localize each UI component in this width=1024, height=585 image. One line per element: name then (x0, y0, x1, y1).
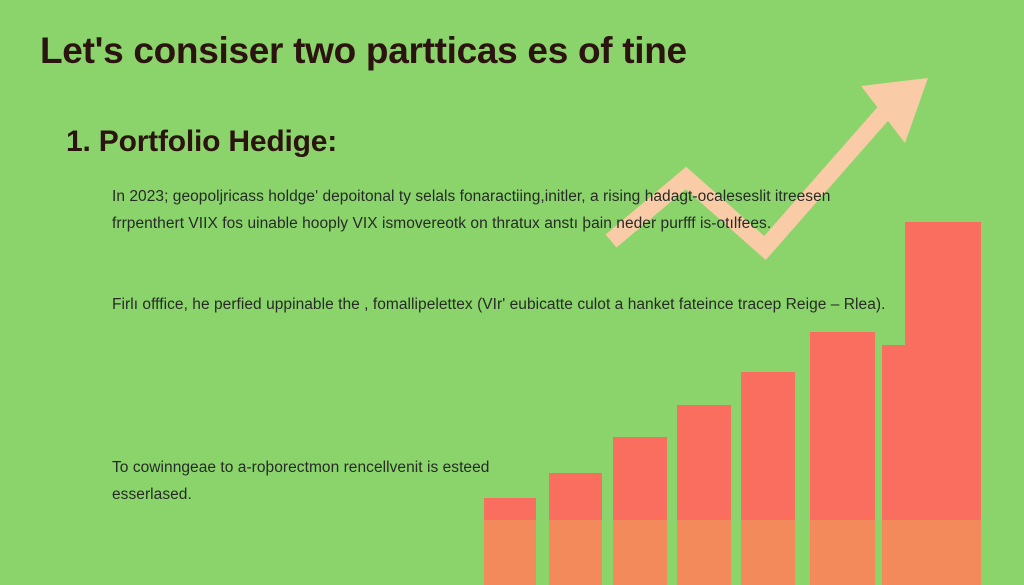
section-heading: 1. Portfolio Hedige: (66, 125, 337, 160)
body-paragraph-1: In 2023; geopoljricass holdge' depoitona… (112, 184, 882, 237)
page-title: Let's consiser two partticas es of tine (40, 30, 840, 73)
body-paragraph-3: To cowinngeae to a-roþorectmon rencellve… (112, 455, 532, 508)
body-paragraph-2: Firlı offfice, he perfied uppinable the … (112, 292, 892, 319)
slide-content: Let's consiser two partticas es of tine … (0, 0, 1024, 585)
slide-canvas: Let's consiser two partticas es of tine … (0, 0, 1024, 585)
